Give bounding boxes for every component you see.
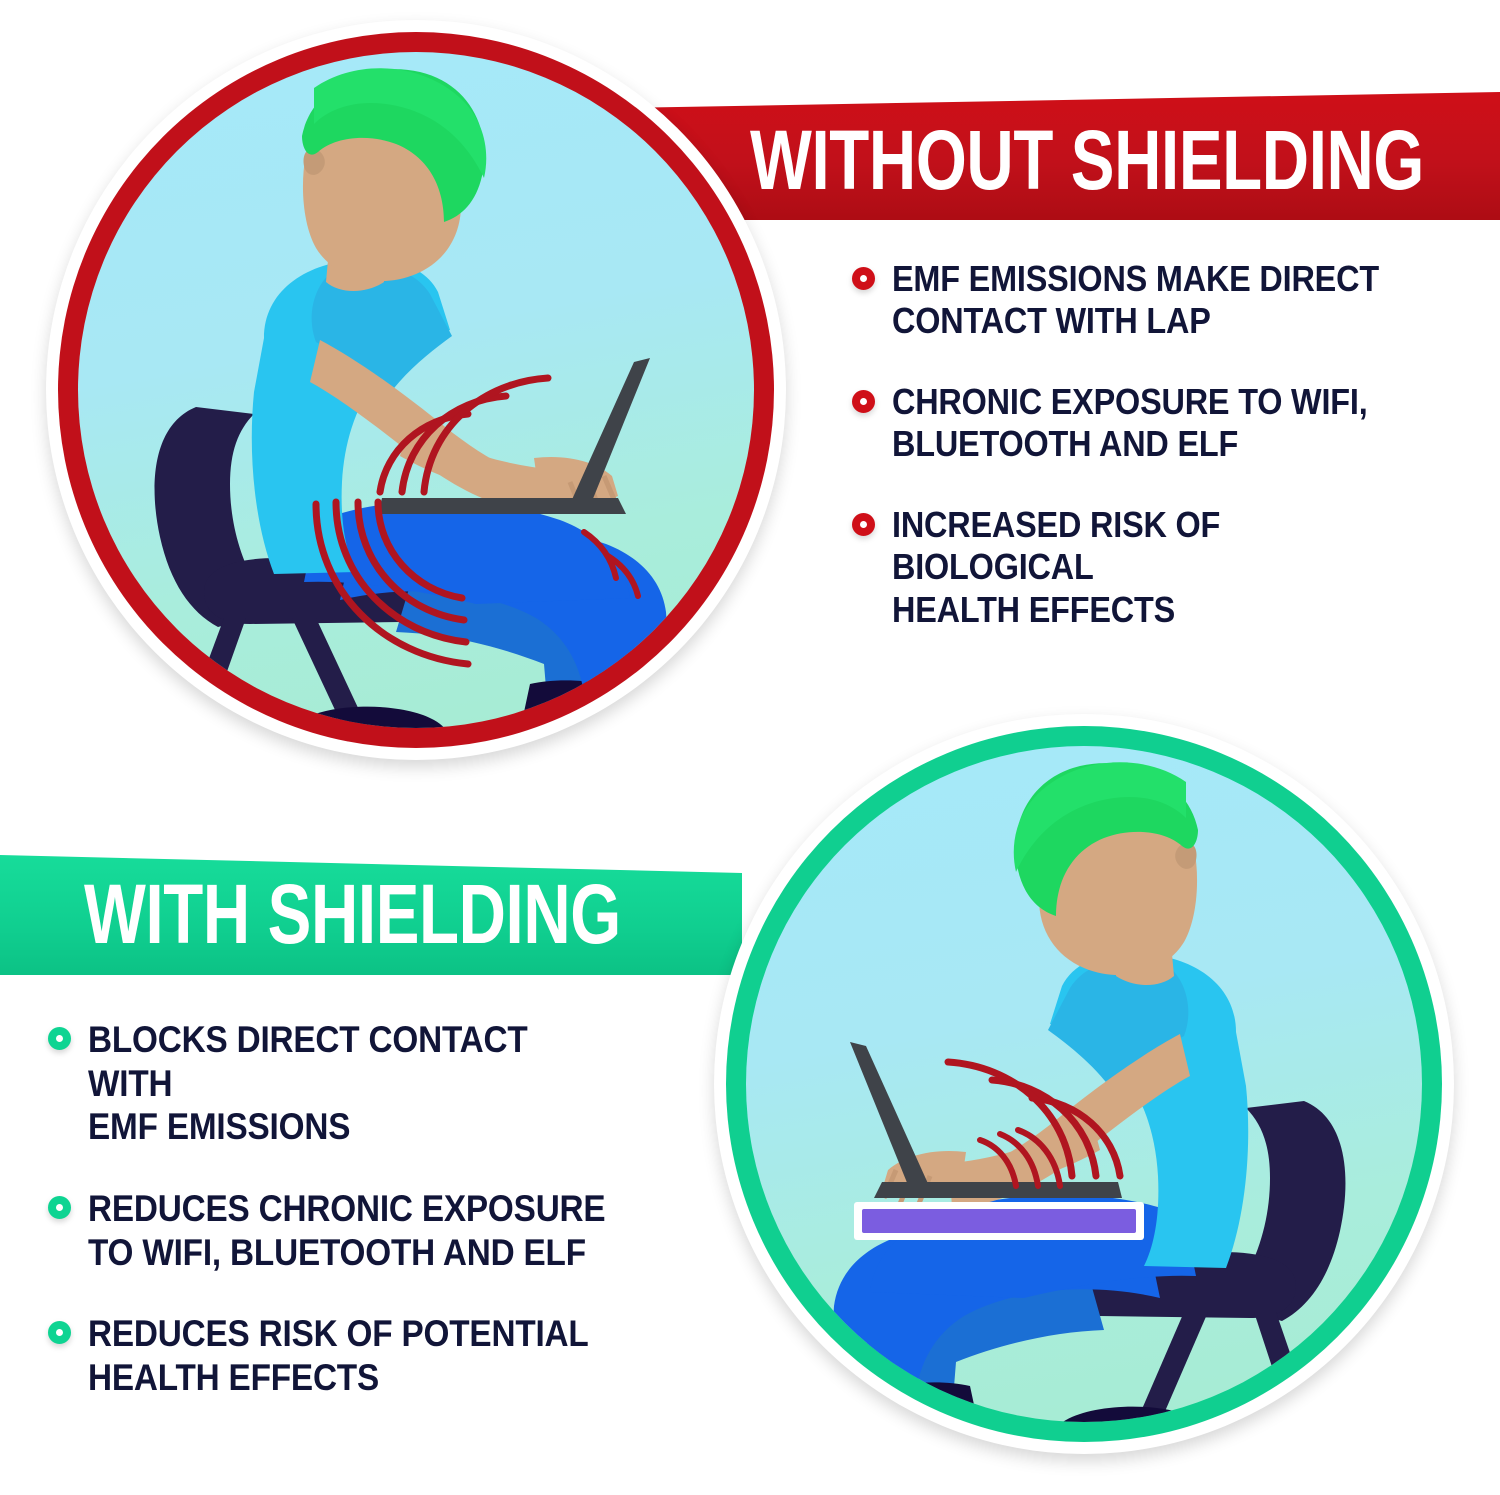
bullet-item: INCREASED RISK OF BIOLOGICAL HEALTH EFFE… [852, 504, 1472, 631]
bullet-ring-icon-green [48, 1027, 71, 1050]
bullet-ring-icon-red [852, 390, 875, 413]
shoe-near [296, 707, 450, 728]
chair-leg-rear [1254, 1312, 1322, 1422]
chair-leg-rear [178, 618, 246, 728]
illustration-circle-with-shielding [714, 714, 1454, 1454]
shoe-near [1051, 1407, 1205, 1422]
scene-person-laptop-unshielded [78, 52, 754, 728]
laptop-base [378, 498, 626, 514]
bullet-label: EMF EMISSIONS MAKE DIRECT CONTACT WITH L… [892, 258, 1379, 343]
bullet-label: CHRONIC EXPOSURE TO WIFI, BLUETOOTH AND … [892, 381, 1368, 466]
bullet-item: BLOCKS DIRECT CONTACT WITH EMF EMISSIONS [48, 1018, 668, 1149]
shield-pad-purple [862, 1209, 1136, 1233]
circle-scene-area-with [746, 746, 1422, 1422]
bullet-ring-icon-red [852, 267, 875, 290]
banner-with-shielding-label: WITH SHIELDING [84, 872, 621, 956]
bullet-item: REDUCES RISK OF POTENTIAL HEALTH EFFECTS [48, 1312, 668, 1399]
bullet-label: REDUCES CHRONIC EXPOSURE TO WIFI, BLUETO… [88, 1187, 605, 1274]
bullet-item: EMF EMISSIONS MAKE DIRECT CONTACT WITH L… [852, 258, 1472, 343]
bullet-list-with-shielding: BLOCKS DIRECT CONTACT WITH EMF EMISSIONS… [48, 1018, 668, 1438]
circle-scene-area-without [78, 52, 754, 728]
banner-with-shielding: WITH SHIELDING [0, 855, 742, 975]
bullet-ring-icon-green [48, 1321, 71, 1344]
bullet-label: BLOCKS DIRECT CONTACT WITH EMF EMISSIONS [88, 1018, 610, 1149]
bullet-item: CHRONIC EXPOSURE TO WIFI, BLUETOOTH AND … [852, 381, 1472, 466]
infographic-canvas: WITHOUT SHIELDING WITH SHIELDING [0, 0, 1500, 1495]
bullet-label: REDUCES RISK OF POTENTIAL HEALTH EFFECTS [88, 1312, 589, 1399]
bullet-ring-icon-green [48, 1196, 71, 1219]
chair-leg-front [1126, 1312, 1208, 1422]
bullet-list-without-shielding: EMF EMISSIONS MAKE DIRECT CONTACT WITH L… [852, 258, 1472, 669]
laptop-base [874, 1182, 1122, 1198]
laptop-screen [850, 1042, 930, 1190]
bullet-label: INCREASED RISK OF BIOLOGICAL HEALTH EFFE… [892, 504, 1414, 631]
banner-without-shielding-label: WITHOUT SHIELDING [750, 118, 1424, 202]
bullet-item: REDUCES CHRONIC EXPOSURE TO WIFI, BLUETO… [48, 1187, 668, 1274]
bullet-ring-icon-red [852, 513, 875, 536]
illustration-circle-without-shielding [46, 20, 786, 760]
scene-person-laptop-shielded [746, 746, 1422, 1422]
